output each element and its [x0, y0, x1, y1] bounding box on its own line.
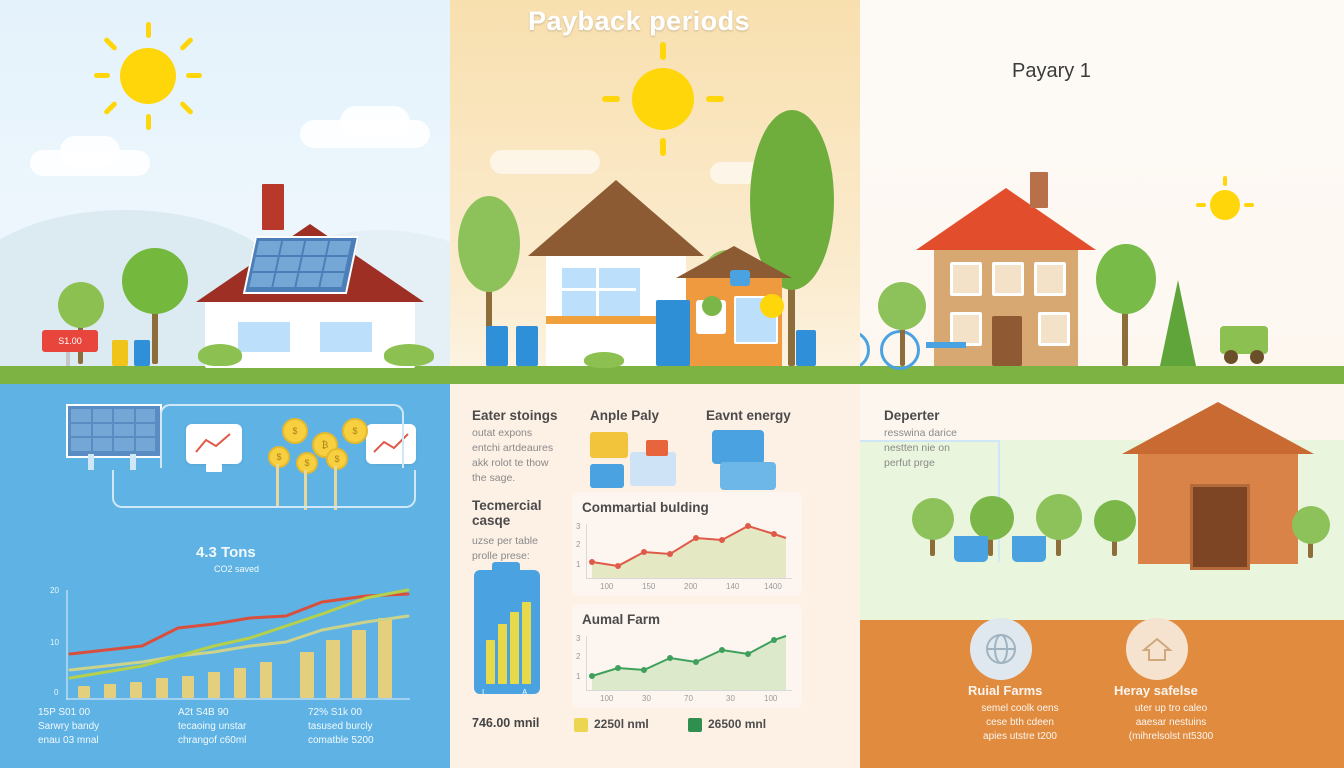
case-heading: Tecmercial casqe — [472, 498, 542, 528]
barn-door — [1190, 484, 1250, 570]
caption-line: 72% S1k 00 — [308, 707, 362, 718]
column-body-1: outat expons entchi artdeaures akk rolot… — [472, 426, 582, 486]
recycle-bin — [112, 340, 128, 366]
bench — [926, 342, 966, 348]
sun-icon — [632, 68, 694, 130]
cart-wheel — [1250, 350, 1264, 364]
window-mullion — [558, 288, 636, 291]
badge-line: aaesar nestuins — [1136, 717, 1207, 728]
sun-ray — [1244, 203, 1254, 207]
panel-stand — [88, 454, 94, 470]
ground-strip — [0, 366, 450, 384]
footer-band-right — [860, 620, 1344, 768]
panel-title-right: Payary 1 — [1012, 60, 1091, 83]
tree-foliage — [458, 196, 520, 292]
x-tick: 30 — [726, 694, 735, 703]
recycle-bin — [516, 326, 538, 366]
connector-line — [860, 440, 1000, 442]
body-right: resswina darice nestten nie on perfut pr… — [884, 426, 1014, 471]
caption-line: A2t S4B 90 — [178, 707, 229, 718]
sun-ray — [660, 138, 666, 156]
x-tick: 100 — [764, 694, 777, 703]
bush — [198, 344, 242, 366]
y-tick: 10 — [50, 638, 59, 647]
legend-swatch — [688, 718, 702, 732]
window — [558, 264, 644, 324]
window — [1034, 262, 1066, 296]
panel-cell-grid — [71, 409, 155, 451]
column-heading-2: Anple Paly — [590, 408, 659, 423]
pine-tree — [1160, 280, 1196, 366]
badge-line: (mihrelsolst nt5300 — [1129, 731, 1213, 742]
battery-value: 746.00 mnil — [472, 716, 539, 730]
solar-array — [66, 404, 162, 458]
line-chart-farm — [586, 630, 794, 692]
column-heading-1: Eater stoings — [472, 408, 558, 423]
x-tick: A — [522, 688, 527, 697]
door — [992, 316, 1022, 366]
wire-path — [112, 470, 416, 508]
bar — [486, 640, 495, 684]
y-tick: 0 — [54, 688, 58, 697]
x-tick: 100 — [600, 694, 613, 703]
sun-icon — [1210, 190, 1240, 220]
x-tick: 150 — [642, 582, 655, 591]
globe-glyph — [984, 632, 1018, 666]
caption-line: tasused burcly — [308, 721, 372, 732]
ground-strip — [450, 366, 860, 384]
x-tick: 140 — [726, 582, 739, 591]
sun-ray — [1196, 203, 1206, 207]
chimney — [262, 184, 284, 230]
chart-title-commercial: Commartial bulding — [582, 500, 709, 515]
water-tank — [954, 536, 988, 562]
panel-left: S1.00 $ ₿ — [0, 0, 450, 768]
solar-panel-roof — [243, 236, 359, 294]
sun-ray — [146, 22, 151, 38]
sun-ray — [706, 96, 724, 102]
window — [236, 320, 292, 354]
x-tick: 30 — [642, 694, 651, 703]
badge-title-2: Heray safelse — [1114, 684, 1198, 698]
y-tick: 2 — [576, 540, 580, 549]
tree-foliage — [912, 498, 954, 540]
sun-icon — [120, 48, 176, 104]
tree-foliage — [878, 282, 926, 330]
wire-path — [160, 404, 404, 468]
sun-ray — [1223, 176, 1227, 186]
globe-icon — [970, 618, 1032, 680]
sun-ray — [146, 114, 151, 130]
badge-title-1: Ruial Farms — [968, 684, 1042, 698]
bush — [584, 352, 624, 368]
main-title: Payback periods — [528, 6, 750, 37]
window — [318, 320, 374, 354]
y-tick: 3 — [576, 634, 580, 643]
chimney — [1030, 172, 1048, 208]
plant-foliage — [702, 296, 722, 316]
cart-wheel — [1224, 350, 1238, 364]
caption-line: comatble 5200 — [308, 735, 374, 746]
badge-body-1: semel coolk oens cese bth cdeen apies ut… — [950, 702, 1090, 744]
bar — [522, 602, 531, 684]
monitor-icon — [630, 452, 676, 486]
y-tick: 3 — [576, 522, 580, 531]
house-roof — [528, 180, 704, 256]
line-chart-left — [66, 588, 412, 700]
case-body: uzse per table prolle prese: — [472, 534, 582, 564]
y-tick: 2 — [576, 652, 580, 661]
y-tick: 1 — [576, 560, 580, 569]
x-tick: 200 — [684, 582, 697, 591]
sun-ray — [94, 73, 110, 78]
recycle-bin — [134, 340, 150, 366]
panel-stand — [130, 454, 136, 470]
barn-roof — [1122, 402, 1314, 454]
x-tick: 1400 — [764, 582, 782, 591]
chart-title-farm: Aumal Farm — [582, 612, 660, 627]
x-tick: 70 — [684, 694, 693, 703]
home-glyph — [1141, 633, 1173, 665]
battery-icon — [712, 430, 764, 464]
badge-body-2: uter up tro caleo aaesar nestuins (mihre… — [1096, 702, 1246, 744]
y-tick: 1 — [576, 672, 580, 681]
tree-foliage — [1096, 244, 1156, 314]
panel-cell-grid — [249, 241, 351, 287]
sun-ray — [602, 96, 620, 102]
window — [950, 312, 982, 346]
water-tank — [1012, 536, 1046, 562]
caption-line: Sarwry bandy — [38, 721, 99, 732]
sun-ray — [660, 42, 666, 60]
recycle-bin — [796, 330, 816, 366]
sun-ray — [186, 73, 202, 78]
tree-foliage — [58, 282, 104, 328]
badge-line: cese bth cdeen — [986, 717, 1054, 728]
caption-line: 15P S01 00 — [38, 707, 90, 718]
cloud-icon — [340, 106, 410, 138]
caption-1: 15P S01 00 Sarwry bandy enau 03 mnal — [38, 706, 158, 748]
tree-foliage — [1094, 500, 1136, 542]
x-tick: 100 — [600, 582, 613, 591]
heading-right: Deperter — [884, 408, 940, 423]
x-tick: I — [482, 688, 484, 697]
solar-badge-icon — [730, 270, 750, 286]
bar — [498, 624, 507, 684]
panel-middle: Payback periods — [450, 0, 860, 768]
tree-foliage — [1036, 494, 1082, 540]
recycle-bin — [486, 326, 508, 366]
legend-label: 26500 mnl — [708, 717, 766, 731]
legend-label: 2250l nml — [594, 717, 649, 731]
battery-cap — [492, 562, 520, 572]
tree-trunk — [788, 280, 795, 366]
door — [656, 300, 690, 366]
tree-foliage — [1292, 506, 1330, 544]
battery-icon — [720, 462, 776, 490]
cloud-icon — [60, 136, 120, 166]
caption-line: tecaoing unstar — [178, 721, 246, 732]
device-icon — [590, 464, 624, 488]
column-heading-3: Eavnt energy — [706, 408, 791, 423]
caption-line: chrangof c60ml — [178, 735, 246, 746]
alert-icon — [646, 440, 668, 456]
caption-3: 72% S1k 00 tasused burcly comatble 5200 — [308, 706, 438, 748]
y-tick: 20 — [50, 586, 59, 595]
caption-line: enau 03 mnal — [38, 735, 99, 746]
bush — [384, 344, 434, 366]
cloud-icon — [490, 150, 600, 174]
badge-line: uter up tro caleo — [1135, 703, 1207, 714]
window — [992, 262, 1024, 296]
bar — [510, 612, 519, 684]
tree-foliage — [122, 248, 188, 314]
line-chart-commercial — [586, 518, 794, 580]
mail-icon — [590, 432, 628, 458]
price-sign: S1.00 — [42, 330, 98, 352]
panel-right: Payary 1 Deperter — [860, 0, 1344, 768]
stat-value: 4.3 Tons — [196, 546, 256, 560]
window — [1038, 312, 1070, 346]
stat-sub: CO2 saved — [214, 562, 259, 576]
small-sun-icon — [760, 294, 784, 318]
ground-strip — [860, 366, 1344, 384]
legend-swatch — [574, 718, 588, 732]
infographic-stage: S1.00 $ ₿ — [0, 0, 1344, 768]
badge-line: semel coolk oens — [981, 703, 1058, 714]
window — [950, 262, 982, 296]
badge-line: apies utstre t200 — [983, 731, 1057, 742]
sign-post — [66, 352, 70, 366]
house-roof — [916, 188, 1096, 250]
tree-foliage — [970, 496, 1014, 540]
home-icon — [1126, 618, 1188, 680]
caption-2: A2t S4B 90 tecaoing unstar chrangof c60m… — [178, 706, 308, 748]
